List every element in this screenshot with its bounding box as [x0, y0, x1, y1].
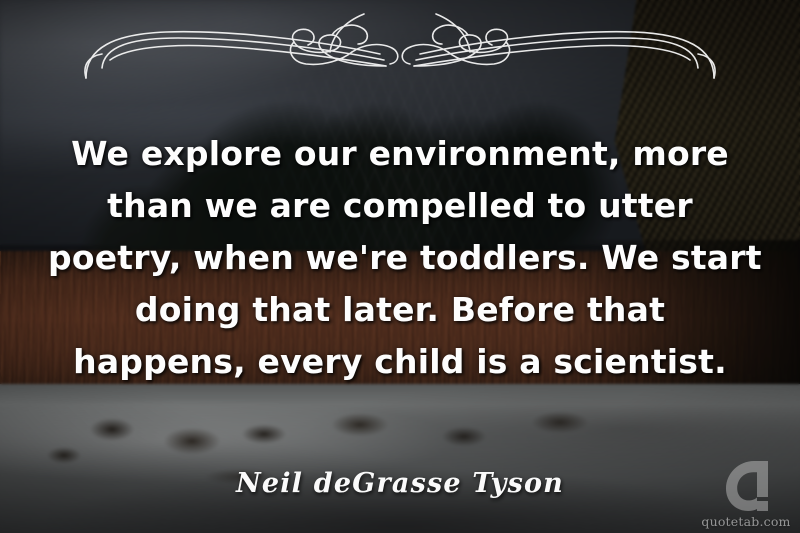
flourish-divider-icon	[80, 8, 720, 84]
watermark-site-label: quotetab.com	[700, 514, 792, 529]
quote-line: happens, every child is a scientist.	[48, 336, 752, 388]
quote-line: doing that later. Before that	[48, 284, 752, 336]
card-content: We explore our environment, more than we…	[0, 0, 800, 533]
watermark[interactable]: quotetab.com	[700, 457, 792, 529]
quote-image: We explore our environment, more than we…	[0, 0, 800, 533]
quote-text: We explore our environment, more than we…	[48, 128, 752, 388]
quote-line: poetry, when we're toddlers. We start	[48, 232, 752, 284]
quote-line: than we are compelled to utter	[48, 180, 752, 232]
author-attribution: Neil deGrasse Tyson	[120, 468, 680, 499]
quotetab-q-logo-icon	[718, 457, 774, 513]
quote-line: We explore our environment, more	[48, 128, 752, 180]
